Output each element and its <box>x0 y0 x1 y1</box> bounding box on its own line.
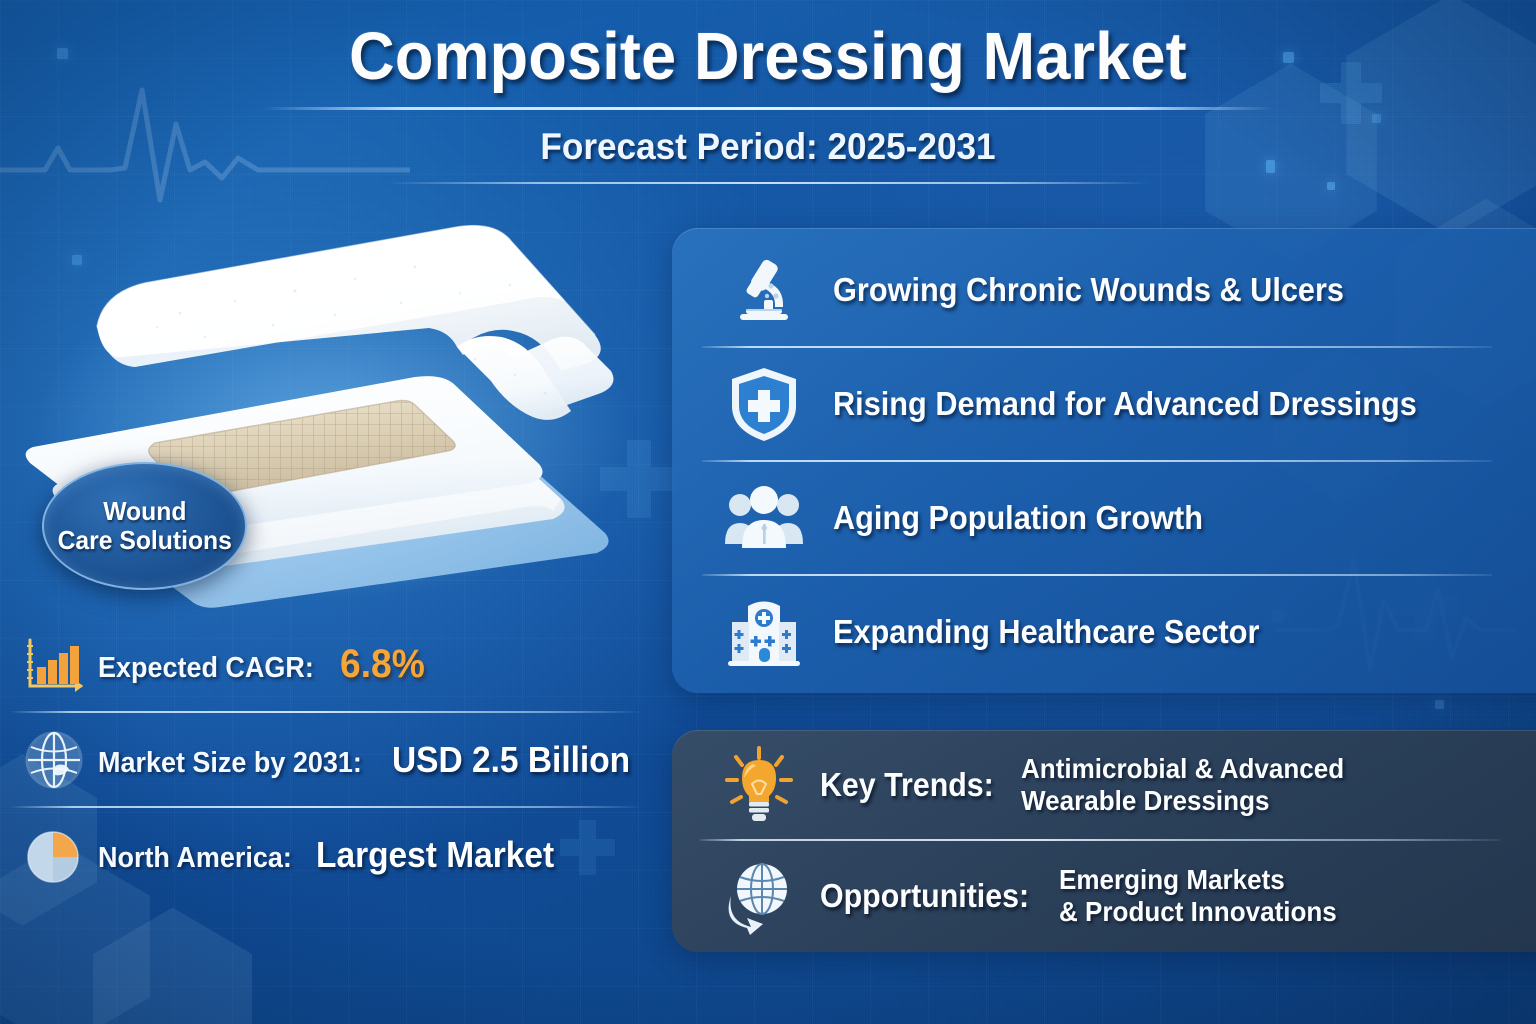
insight-body: Key Trends: Antimicrobial & Advanced Wea… <box>814 753 1368 816</box>
stat-text: Market Size by 2031: USD 2.5 Billion <box>94 739 648 781</box>
stat-value: Largest Market <box>316 834 554 876</box>
driver-label: Growing Chronic Wounds & Ulcers <box>820 271 1344 309</box>
stat-label: North America: <box>98 842 292 875</box>
pie-chart-icon <box>14 824 94 886</box>
stat-value: USD 2.5 Billion <box>392 739 630 781</box>
driver-row-aging-population: Aging Population Growth <box>672 462 1536 574</box>
bar-chart-icon <box>14 636 94 694</box>
insight-value: Emerging Markets & Product Innovations <box>1059 864 1337 927</box>
globe-arrow-icon <box>704 856 814 936</box>
insight-row-opportunities: Opportunities: Emerging Markets & Produc… <box>672 841 1536 950</box>
insight-value: Antimicrobial & Advanced Wearable Dressi… <box>1021 753 1344 816</box>
stat-row-region: North America: Largest Market <box>0 808 660 901</box>
insight-row-key-trends: Key Trends: Antimicrobial & Advanced Wea… <box>672 730 1536 839</box>
insight-label: Key Trends: <box>820 766 994 804</box>
lightbulb-icon <box>704 744 814 826</box>
trends-opportunities-panel: Key Trends: Antimicrobial & Advanced Wea… <box>672 730 1536 952</box>
stat-text: Expected CAGR: 6.8% <box>94 642 431 687</box>
stat-label: Market Size by 2031: <box>98 747 362 780</box>
stat-row-cagr: Expected CAGR: 6.8% <box>0 618 660 711</box>
driver-label: Aging Population Growth <box>820 499 1203 537</box>
shield-cross-icon <box>708 364 820 444</box>
key-stats-list: Expected CAGR: 6.8% Market Size by 2031:… <box>0 618 660 901</box>
people-group-icon <box>708 482 820 554</box>
microscope-icon <box>708 252 820 328</box>
subtitle-divider <box>388 182 1148 184</box>
header: Composite Dressing Market Forecast Perio… <box>0 18 1536 184</box>
stat-text: North America: Largest Market <box>94 834 573 876</box>
driver-row-healthcare-sector: Expanding Healthcare Sector <box>672 576 1536 688</box>
driver-row-chronic-wounds: Growing Chronic Wounds & Ulcers <box>672 234 1536 346</box>
badge-line-1: Wound <box>103 497 186 526</box>
stat-value: 6.8% <box>340 642 425 687</box>
wound-care-badge: Wound Care Solutions <box>42 462 247 590</box>
driver-label: Expanding Healthcare Sector <box>820 613 1259 651</box>
market-drivers-panel: Growing Chronic Wounds & Ulcers Rising D… <box>672 228 1536 693</box>
title-divider <box>263 107 1273 110</box>
globe-icon <box>14 729 94 791</box>
stat-row-market-size: Market Size by 2031: USD 2.5 Billion <box>0 713 660 806</box>
driver-label: Rising Demand for Advanced Dressings <box>820 385 1417 423</box>
insight-label: Opportunities: <box>820 877 1029 915</box>
stat-label: Expected CAGR: <box>98 652 314 685</box>
hospital-icon <box>708 592 820 672</box>
forecast-period-subtitle: Forecast Period: 2025-2031 <box>38 126 1497 168</box>
driver-row-advanced-dressings: Rising Demand for Advanced Dressings <box>672 348 1536 460</box>
page-title: Composite Dressing Market <box>46 18 1490 95</box>
badge-line-2: Care Solutions <box>57 526 231 555</box>
insight-body: Opportunities: Emerging Markets & Produc… <box>814 864 1358 927</box>
